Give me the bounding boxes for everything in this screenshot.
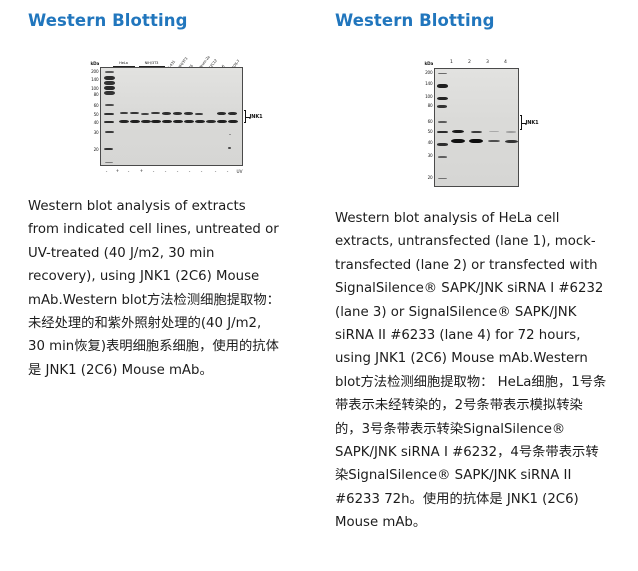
uv-sign-10-left: - — [211, 170, 221, 175]
mw-marker-30-right: 30 — [421, 153, 433, 158]
mw-marker-20-left: 20 — [87, 147, 99, 152]
figure-caption-left: Western blot analysis of extracts from i… — [28, 195, 280, 382]
uv-sign-6-left: - — [161, 170, 171, 175]
panel-left: Western Blotting kDa 200 140 100 80 60 5… — [0, 0, 319, 535]
group-label-nih3t3-left: NIH/3T3 — [138, 61, 166, 65]
mw-marker-100-left: 100 — [87, 86, 99, 91]
kda-caption-left: kDa — [91, 61, 100, 66]
uv-sign-2-left: + — [113, 169, 123, 174]
mw-marker-50-left: 50 — [87, 112, 99, 117]
uv-sign-7-left: - — [173, 170, 183, 175]
lane-number-1-right: 1 — [447, 60, 457, 65]
mw-marker-200-right: 200 — [421, 70, 433, 75]
page-root: Western Blotting kDa 200 140 100 80 60 5… — [0, 0, 638, 571]
lane-number-3-right: 3 — [483, 60, 493, 65]
target-label-jnk1-right: JNK1 — [526, 120, 539, 126]
panel-container: Western Blotting kDa 200 140 100 80 60 5… — [0, 0, 638, 535]
uv-sign-1-left: - — [102, 170, 112, 175]
membrane-left — [100, 67, 243, 166]
page-title-right: Western Blotting — [335, 11, 638, 31]
uv-sign-4-left: + — [137, 169, 147, 174]
uv-sign-3-left: - — [124, 170, 134, 175]
mw-marker-60-left: 60 — [87, 103, 99, 108]
lane-number-2-right: 2 — [465, 60, 475, 65]
mw-marker-50-right: 50 — [421, 129, 433, 134]
uv-sign-9-left: - — [197, 170, 207, 175]
mw-marker-200-left: 200 — [87, 69, 99, 74]
mw-marker-30-left: 30 — [87, 130, 99, 135]
uv-sign-8-left: - — [185, 170, 195, 175]
western-blot-figure-right: kDa 200 140 100 80 60 50 40 30 20 1 2 3 … — [421, 53, 541, 191]
target-label-jnk1-left: JNK1 — [250, 114, 263, 120]
uv-sign-5-left: - — [149, 170, 159, 175]
western-blot-figure-left: kDa 200 140 100 80 60 50 40 30 20 HeLa N… — [87, 53, 247, 181]
mw-marker-100-right: 100 — [421, 94, 433, 99]
mw-marker-140-right: 140 — [421, 81, 433, 86]
uv-sign-11-left: - — [223, 170, 233, 175]
page-title-left: Western Blotting — [28, 11, 319, 31]
figure-caption-right: Western blot analysis of HeLa cell extra… — [335, 207, 607, 535]
lane-number-4-right: 4 — [501, 60, 511, 65]
mw-marker-40-right: 40 — [421, 140, 433, 145]
uv-axis-label-left: UV — [237, 169, 243, 174]
mw-marker-60-right: 60 — [421, 119, 433, 124]
figure-wrap-right: kDa 200 140 100 80 60 50 40 30 20 1 2 3 … — [319, 53, 638, 191]
kda-caption-right: kDa — [425, 61, 434, 66]
panel-right: Western Blotting kDa 200 140 100 80 60 5… — [319, 0, 638, 535]
mw-marker-140-left: 140 — [87, 77, 99, 82]
group-label-hela-left: HeLa — [113, 61, 135, 65]
mw-marker-40-left: 40 — [87, 120, 99, 125]
mw-marker-20-right: 20 — [421, 175, 433, 180]
figure-wrap-left: kDa 200 140 100 80 60 50 40 30 20 HeLa N… — [0, 53, 319, 181]
mw-marker-80-right: 80 — [421, 103, 433, 108]
mw-marker-80-left: 80 — [87, 92, 99, 97]
membrane-right — [434, 68, 519, 187]
